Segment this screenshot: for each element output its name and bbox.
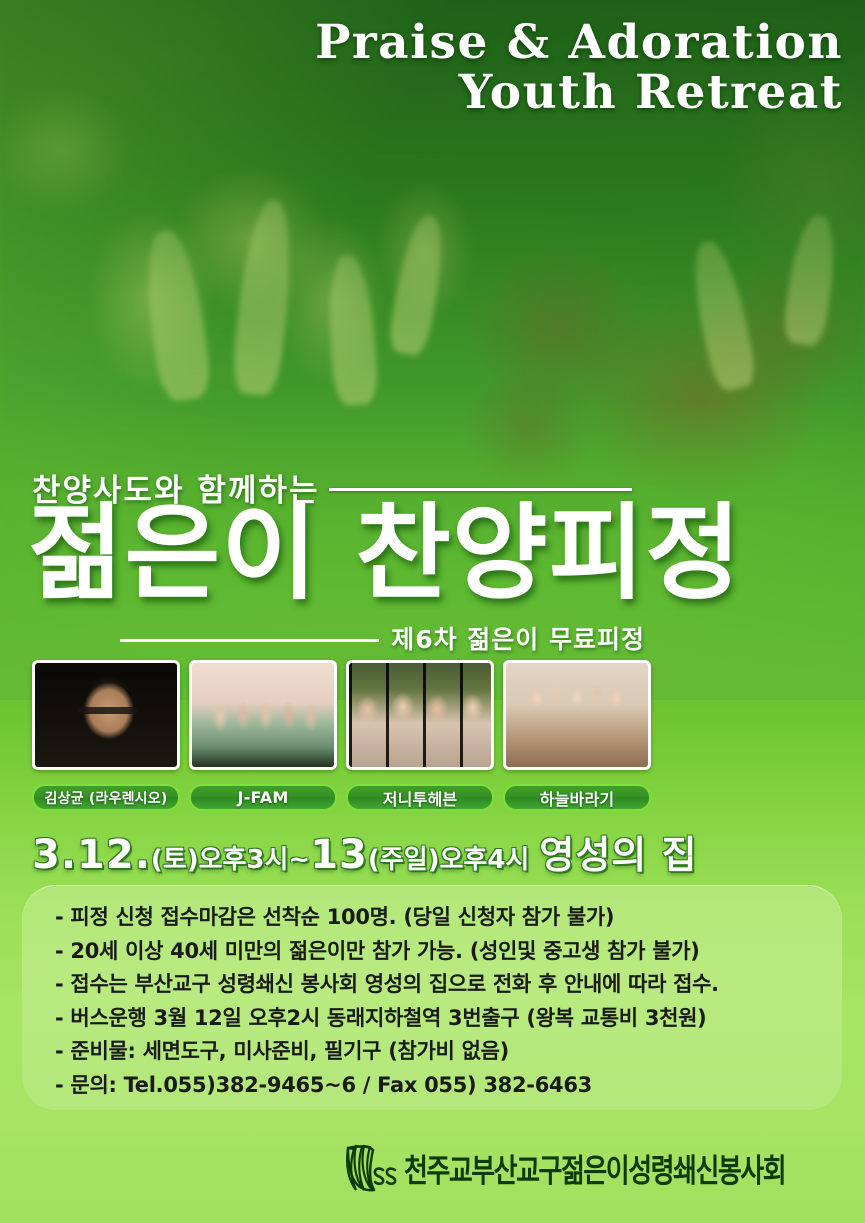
performer-badge-4: 하늘바라기 <box>503 784 651 811</box>
schedule-venue: 영성의 집 <box>539 824 697 879</box>
footer: 천주교부산교구젊은이성령쇄신봉사회 <box>340 1140 785 1196</box>
korean-subtitle-row: 제6차 젊은이 무료피정 <box>120 620 645 656</box>
heading-rule-line <box>329 488 632 491</box>
korean-main-title: 젊은이 찬양피정 <box>28 495 742 611</box>
performer-badge-1: 김상균 (라우렌시오) <box>32 784 180 811</box>
info-item: - 문의: Tel.055)382-9465~6 / Fax 055) 382-… <box>55 1069 822 1103</box>
performer-badge-2: J-FAM <box>189 784 337 811</box>
info-item: - 접수는 부산교구 성령쇄신 봉사회 영성의 집으로 전화 후 안내에 따라 … <box>55 968 822 1002</box>
information-list: - 피정 신청 접수마감은 선착순 100명. (당일 신청자 참가 불가) -… <box>55 901 822 1102</box>
band-stage-photo <box>192 663 334 767</box>
performer-photo-1 <box>32 660 180 770</box>
schedule-line: 3.12. (토)오후3시~ 13 (주일)오후4시 영성의 집 <box>32 824 697 879</box>
subtitle-rule-line <box>120 639 379 642</box>
performer-badge-row: 김상균 (라우렌시오) J-FAM 저니투헤븐 하늘바라기 <box>32 784 652 811</box>
schedule-end-date: 13 <box>310 832 368 878</box>
info-item: - 준비물: 세면도구, 미사준비, 필기구 (참가비 없음) <box>55 1035 822 1069</box>
poster-root: Praise & Adoration Youth Retreat 찬양사도와 함… <box>0 0 865 1223</box>
performer-photo-4 <box>503 660 651 770</box>
schedule-start-detail: (토)오후3시~ <box>151 839 310 876</box>
footer-organization: 천주교부산교구젊은이성령쇄신봉사회 <box>404 1145 785 1190</box>
english-title-line1: Praise & Adoration <box>315 18 843 68</box>
korean-subtitle: 제6차 젊은이 무료피정 <box>391 620 645 656</box>
english-title: Praise & Adoration Youth Retreat <box>315 18 843 118</box>
solo-speaker-photo <box>35 663 177 767</box>
group-photo <box>506 663 648 767</box>
english-title-line2: Youth Retreat <box>315 68 843 118</box>
info-item: - 20세 이상 40세 미만의 젊은이만 참가 가능. (성인및 중고생 참가… <box>55 935 822 969</box>
schedule-start-date: 3.12. <box>32 832 151 878</box>
info-item: - 버스운행 3월 12일 오후2시 동래지하철역 3번출구 (왕복 교통비 3… <box>55 1002 822 1036</box>
performer-photo-3 <box>346 660 494 770</box>
schedule-end-detail: (주일)오후4시 <box>368 839 529 876</box>
singers-photo <box>349 663 491 767</box>
flame-leaf-ss-logo <box>340 1140 402 1196</box>
information-box: - 피정 신청 접수마감은 선착순 100명. (당일 신청자 참가 불가) -… <box>22 885 842 1110</box>
info-item: - 피정 신청 접수마감은 선착순 100명. (당일 신청자 참가 불가) <box>55 901 822 935</box>
performer-photo-2 <box>189 660 337 770</box>
performer-photo-strip <box>32 660 652 770</box>
performer-badge-3: 저니투헤븐 <box>346 784 494 811</box>
